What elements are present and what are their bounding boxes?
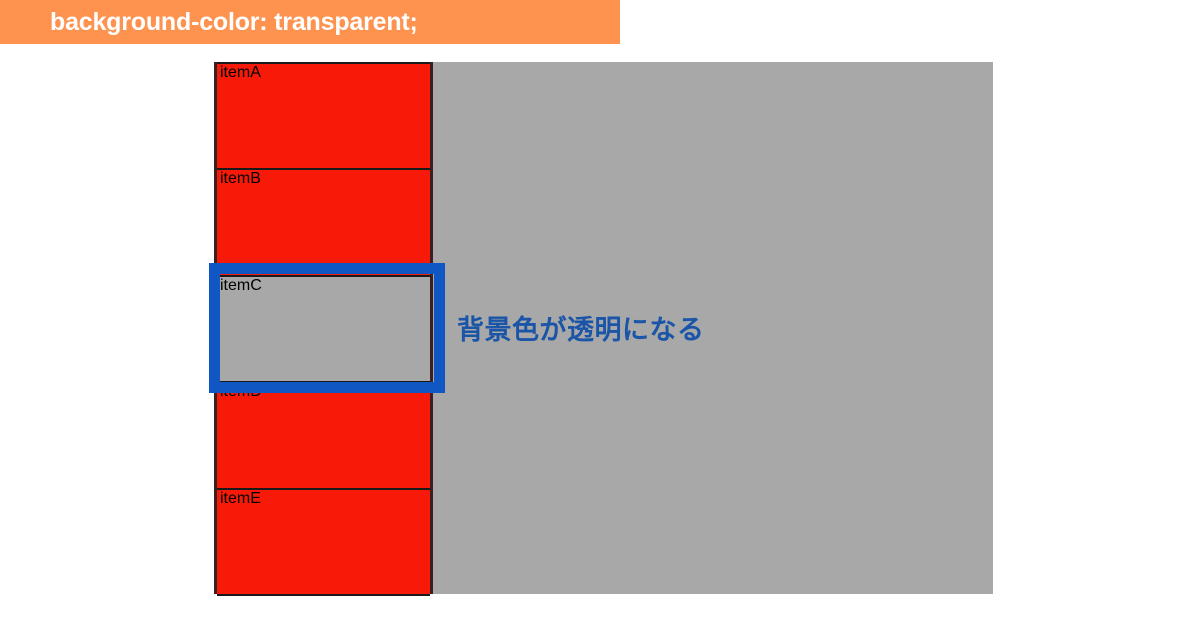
list-item-label: itemE: [220, 490, 261, 507]
list-item-transparent[interactable]: itemC: [217, 275, 430, 383]
list-item[interactable]: itemE: [217, 488, 430, 596]
list-item-label: itemB: [220, 170, 261, 187]
list-item-label: itemC: [220, 277, 262, 294]
item-list: itemA itemB itemC itemD itemE: [214, 62, 433, 594]
header-banner: background-color: transparent;: [0, 0, 620, 44]
annotation-label: 背景色が透明になる: [457, 308, 705, 347]
list-item[interactable]: itemD: [217, 381, 430, 489]
list-item-label: itemA: [220, 64, 261, 81]
list-item-label: itemD: [220, 383, 262, 400]
list-item[interactable]: itemB: [217, 168, 430, 276]
page-title: background-color: transparent;: [50, 8, 418, 37]
list-item[interactable]: itemA: [217, 62, 430, 170]
